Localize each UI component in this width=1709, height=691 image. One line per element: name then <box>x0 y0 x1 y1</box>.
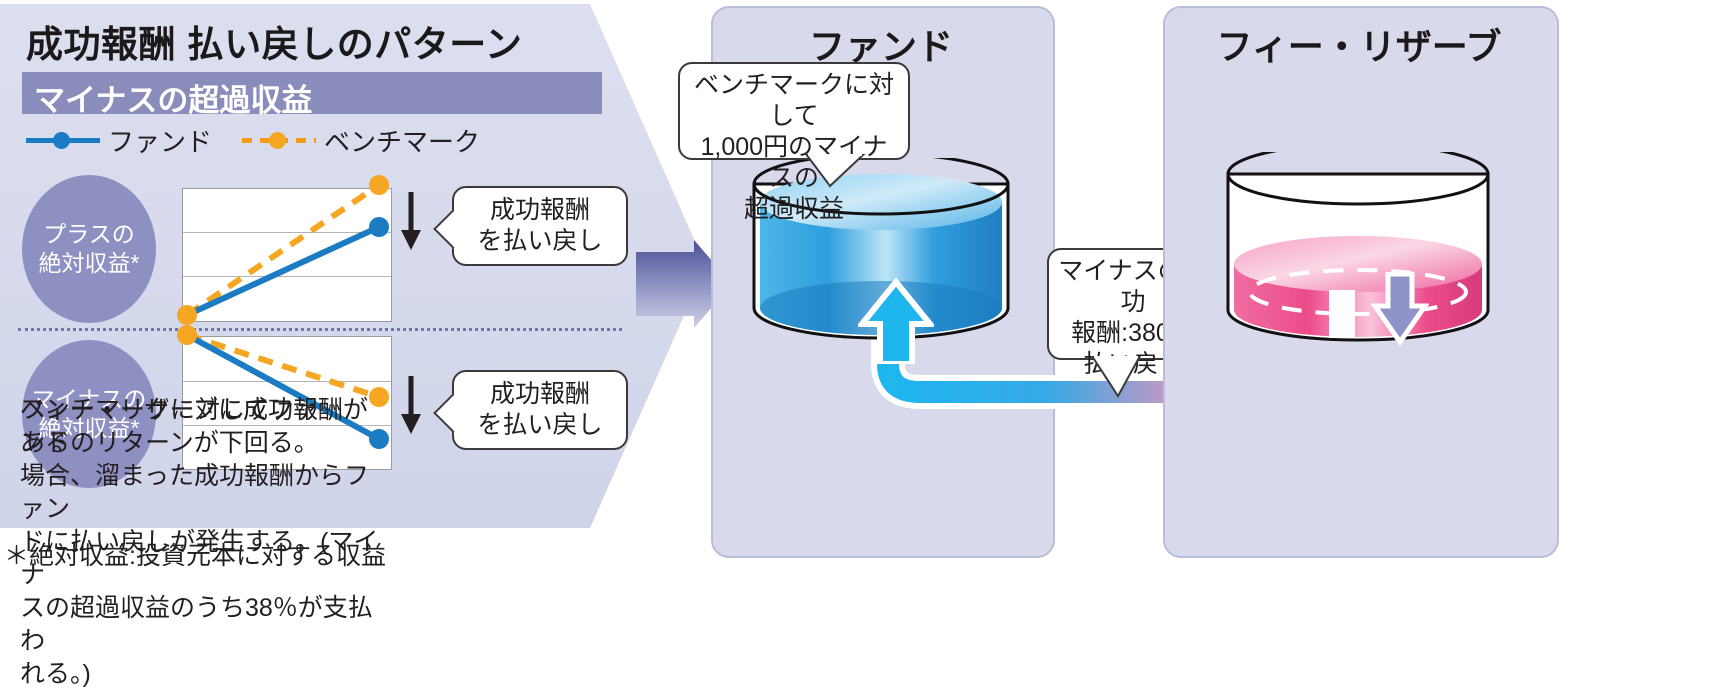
callout-fund-excess-return: ベンチマークに対して 1,000円のマイナスの 超過収益 <box>678 62 910 160</box>
callout-fund-line1: ベンチマークに対して <box>694 71 894 130</box>
chart-legend: ファンド ベンチマーク <box>26 122 586 160</box>
legend-label-benchmark: ベンチマーク <box>324 122 480 159</box>
row-label-positive-line2: 絶対収益* <box>39 249 140 278</box>
row-divider <box>18 328 622 331</box>
reserve-riser-connector <box>1329 290 1355 338</box>
payback-arrow-positive-icon <box>398 192 424 250</box>
callout-positive-payback: 成功報酬 を払い戻し <box>452 186 628 266</box>
chart-positive-return <box>182 188 392 322</box>
legend-swatch-benchmark-icon <box>242 130 316 150</box>
diagram-canvas: 成功報酬 払い戻しのパターン マイナスの超過収益 ファンド ベンチマーク プラス… <box>0 0 1709 616</box>
subtitle-text: マイナスの超過収益 <box>34 75 312 120</box>
legend-label-fund: ファンド <box>108 122 212 159</box>
callout-negative-payback: 成功報酬 を払い戻し <box>452 370 628 450</box>
callout-positive-line2: を払い戻し <box>477 227 602 255</box>
payback-arrow-negative-icon <box>398 376 424 434</box>
chart-positive-lines <box>183 189 391 321</box>
fee-reserve-panel-description: フィー・リザーブに成功報酬がある 場合、溜まった成功報酬からファン ドに払い戻し… <box>20 394 386 691</box>
callout-fund-line3: 超過収益 <box>744 195 844 223</box>
fee-desc-line1: フィー・リザーブに成功報酬がある <box>20 396 368 457</box>
fee-reserve-panel-title: フィー・リザーブ <box>1163 18 1555 70</box>
subtitle-bar: マイナスの超過収益 <box>22 72 602 114</box>
fee-reserve-cylinder-graphic <box>1222 152 1494 348</box>
legend-item-fund: ファンド <box>26 122 212 158</box>
callout-positive-line1: 成功報酬 <box>490 196 590 224</box>
fee-desc-line4: スの超過収益のうち38％が支払わ <box>20 594 373 655</box>
fee-desc-line2: 場合、溜まった成功報酬からファン <box>20 462 369 523</box>
fee-desc-line3: ドに払い戻しが発生する。(マイナ <box>20 528 378 589</box>
outflow-arrow-down-icon <box>1371 272 1429 346</box>
inflow-arrow-up-icon <box>858 278 934 364</box>
callout-negative-line1: 成功報酬 <box>490 380 590 408</box>
callout-mid-tail-icon <box>1088 356 1158 398</box>
row-label-positive-line1: プラスの <box>43 220 135 249</box>
callout-fund-tail-icon <box>800 154 870 188</box>
legend-item-benchmark: ベンチマーク <box>242 122 480 158</box>
callout-negative-line2: を払い戻し <box>477 411 602 439</box>
fee-desc-line5: れる。) <box>20 660 91 688</box>
legend-swatch-fund-icon <box>26 130 100 150</box>
row-label-positive-return: プラスの 絶対収益* <box>22 175 156 323</box>
page-title: 成功報酬 払い戻しのパターン <box>26 14 566 60</box>
